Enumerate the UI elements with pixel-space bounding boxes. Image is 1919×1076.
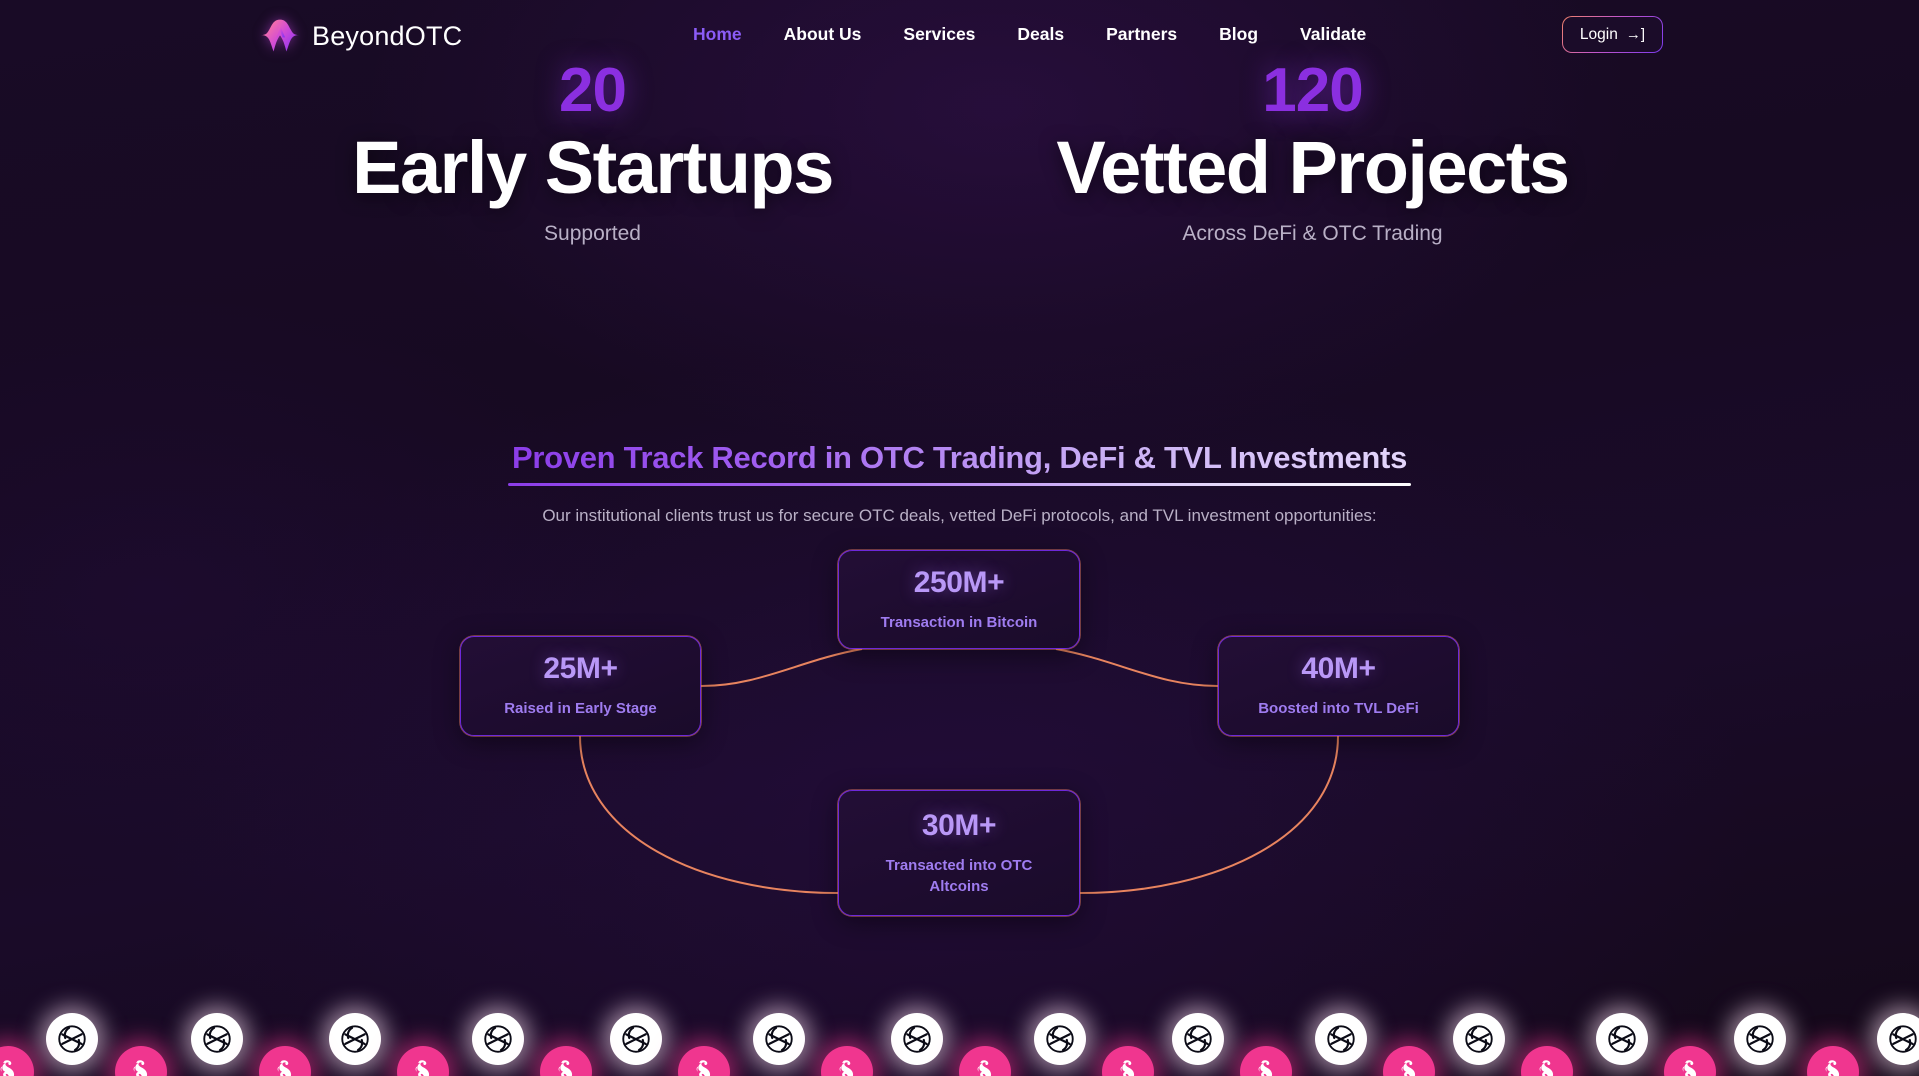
- stellar-coin-icon[interactable]: [472, 1013, 524, 1065]
- hero-stat-vetted-projects: 120 Vetted Projects Across DeFi & OTC Tr…: [953, 60, 1673, 246]
- uniswap-coin-icon[interactable]: [397, 1046, 449, 1076]
- track-record-diagram: 250M+ Transaction in Bitcoin 25M+ Raised…: [0, 535, 1919, 935]
- brand-name: BeyondOTC: [312, 21, 462, 52]
- uniswap-coin-icon[interactable]: [1807, 1046, 1859, 1076]
- stellar-coin-icon[interactable]: [753, 1013, 805, 1065]
- uniswap-coin-icon[interactable]: [1383, 1046, 1435, 1076]
- hero-stat-title: Early Startups: [233, 128, 953, 208]
- hero-stats: 20 Early Startups Supported 120 Vetted P…: [0, 60, 1919, 246]
- diagram-node-value: 40M+: [1301, 652, 1375, 686]
- nav-item-about-us[interactable]: About Us: [763, 24, 883, 45]
- uniswap-coin-icon[interactable]: [1102, 1046, 1154, 1076]
- uniswap-coin-icon[interactable]: [115, 1046, 167, 1076]
- page-root: BeyondOTC Home About Us Services Deals P…: [0, 0, 1919, 1076]
- uniswap-coin-icon[interactable]: [959, 1046, 1011, 1076]
- uniswap-coin-icon[interactable]: [1521, 1046, 1573, 1076]
- nav-item-services[interactable]: Services: [882, 24, 996, 45]
- stellar-coin-icon[interactable]: [46, 1013, 98, 1065]
- uniswap-coin-icon[interactable]: [678, 1046, 730, 1076]
- login-button[interactable]: Login →]: [1562, 16, 1663, 53]
- section-description: Our institutional clients trust us for s…: [0, 506, 1919, 526]
- partner-coin-marquee: [0, 941, 1919, 1076]
- login-arrow-icon: →]: [1626, 27, 1645, 42]
- uniswap-coin-icon[interactable]: [821, 1046, 873, 1076]
- diagram-node-value: 250M+: [914, 566, 1005, 600]
- beyond-otc-logo-icon: [258, 16, 302, 56]
- stellar-coin-icon[interactable]: [1172, 1013, 1224, 1065]
- hero-stat-subtitle: Across DeFi & OTC Trading: [953, 222, 1673, 246]
- stellar-coin-icon[interactable]: [1734, 1013, 1786, 1065]
- diagram-node-boosted-into-tvl-defi[interactable]: 40M+ Boosted into TVL DeFi: [1218, 636, 1459, 736]
- stellar-coin-icon[interactable]: [1034, 1013, 1086, 1065]
- uniswap-coin-icon[interactable]: [1664, 1046, 1716, 1076]
- uniswap-coin-icon[interactable]: [259, 1046, 311, 1076]
- stellar-coin-icon[interactable]: [1315, 1013, 1367, 1065]
- stellar-coin-icon[interactable]: [891, 1013, 943, 1065]
- diagram-node-transaction-in-bitcoin[interactable]: 250M+ Transaction in Bitcoin: [838, 550, 1080, 649]
- nav-item-partners[interactable]: Partners: [1085, 24, 1198, 45]
- brand-logo[interactable]: BeyondOTC: [258, 16, 462, 56]
- uniswap-coin-icon[interactable]: [0, 1046, 34, 1076]
- diagram-node-raised-in-early-stage[interactable]: 25M+ Raised in Early Stage: [460, 636, 701, 736]
- stellar-coin-icon[interactable]: [1453, 1013, 1505, 1065]
- stellar-coin-icon[interactable]: [610, 1013, 662, 1065]
- stellar-coin-icon[interactable]: [191, 1013, 243, 1065]
- hero-stat-subtitle: Supported: [233, 222, 953, 246]
- stellar-coin-icon[interactable]: [329, 1013, 381, 1065]
- diagram-node-label: Transaction in Bitcoin: [881, 613, 1038, 633]
- stellar-coin-icon[interactable]: [1596, 1013, 1648, 1065]
- login-button-label: Login: [1580, 26, 1618, 44]
- hero-stat-title: Vetted Projects: [953, 128, 1673, 208]
- stellar-coin-icon[interactable]: [1877, 1013, 1919, 1065]
- diagram-node-label: Raised in Early Stage: [504, 699, 657, 719]
- section-title: Proven Track Record in OTC Trading, DeFi…: [512, 440, 1407, 486]
- hero-stat-early-startups: 20 Early Startups Supported: [233, 60, 953, 246]
- nav-item-validate[interactable]: Validate: [1279, 24, 1387, 45]
- diagram-node-value: 30M+: [922, 809, 996, 843]
- uniswap-coin-icon[interactable]: [540, 1046, 592, 1076]
- uniswap-coin-icon[interactable]: [1240, 1046, 1292, 1076]
- diagram-node-value: 25M+: [543, 652, 617, 686]
- nav-item-home[interactable]: Home: [672, 24, 763, 45]
- diagram-node-transacted-into-otc-altcoins[interactable]: 30M+ Transacted into OTC Altcoins: [838, 790, 1080, 916]
- nav-links: Home About Us Services Deals Partners Bl…: [672, 24, 1387, 45]
- nav-item-blog[interactable]: Blog: [1198, 24, 1279, 45]
- diagram-node-label: Boosted into TVL DeFi: [1258, 699, 1419, 719]
- nav-item-deals[interactable]: Deals: [996, 24, 1085, 45]
- top-navigation-bar: BeyondOTC Home About Us Services Deals P…: [0, 0, 1919, 83]
- section-header: Proven Track Record in OTC Trading, DeFi…: [0, 440, 1919, 526]
- diagram-node-label: Transacted into OTC Altcoins: [869, 856, 1049, 897]
